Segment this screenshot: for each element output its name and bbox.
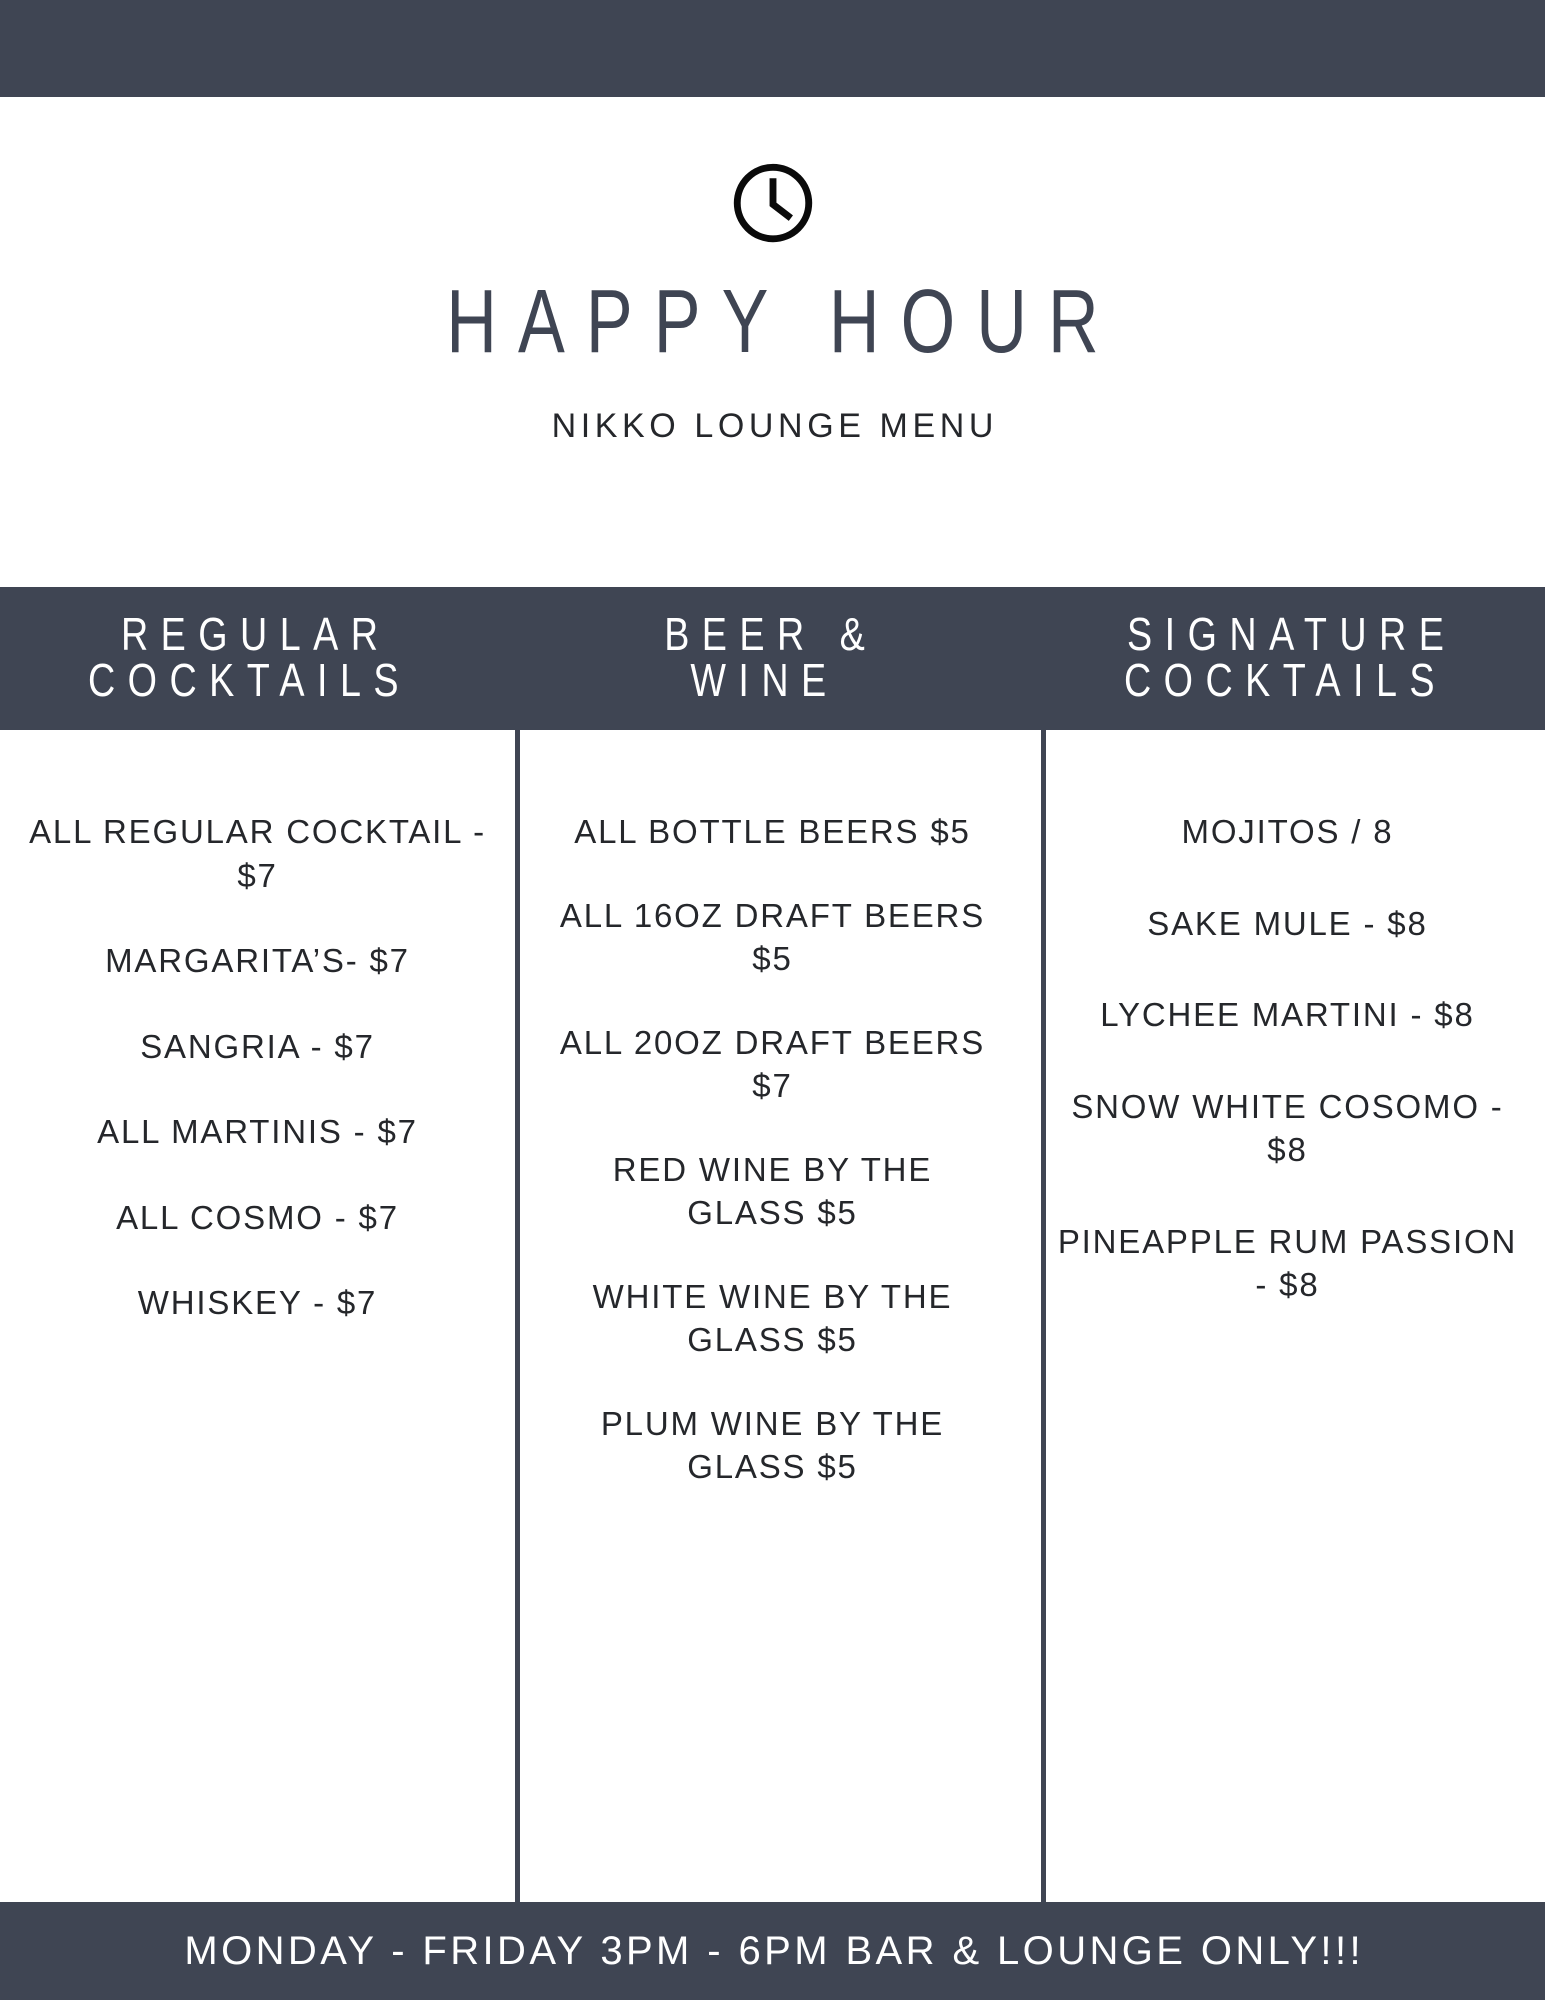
menu-column-beer-and-wine: ALL BOTTLE BEERS $5 ALL 16OZ DRAFT BEERS… — [515, 730, 1030, 1902]
menu-item: RED WINE BY THE GLASS $5 — [549, 1148, 996, 1235]
clock-icon-wrapper — [0, 157, 1545, 249]
menu-item: WHISKEY - $7 — [26, 1281, 489, 1325]
category-header-signature-cocktails: SIGNATURE COCKTAILS — [1028, 611, 1543, 703]
category-title: SIGNATURE COCKTAILS — [1074, 611, 1496, 703]
menu-item: ALL MARTINIS - $7 — [26, 1110, 489, 1154]
category-header-regular-cocktails: REGULAR COCKTAILS — [0, 611, 507, 703]
page-subtitle: NIKKO LOUNGE MENU — [0, 407, 1545, 446]
menu-columns: ALL REGULAR COCKTAIL - $7 MARGARITA’S- $… — [0, 730, 1545, 1902]
clock-icon — [729, 159, 817, 247]
category-header-beer-and-wine: BEER & WINE — [507, 611, 1022, 703]
page-title: HAPPY HOUR — [170, 277, 1375, 367]
footer-bar: MONDAY - FRIDAY 3PM - 6PM BAR & LOUNGE O… — [0, 1902, 1545, 2000]
category-title: BEER & WINE — [553, 611, 975, 703]
menu-item: ALL REGULAR COCKTAIL - $7 — [26, 810, 489, 897]
masthead: HAPPY HOUR NIKKO LOUNGE MENU — [0, 97, 1545, 587]
menu-item: PLUM WINE BY THE GLASS $5 — [549, 1402, 996, 1489]
top-accent-bar — [0, 0, 1545, 97]
menu-item: WHITE WINE BY THE GLASS $5 — [549, 1275, 996, 1362]
menu-item: SAKE MULE - $8 — [1056, 902, 1519, 946]
menu-column-regular-cocktails: ALL REGULAR COCKTAIL - $7 MARGARITA’S- $… — [0, 730, 515, 1902]
menu-item: SANGRIA - $7 — [26, 1025, 489, 1069]
menu-item: MARGARITA’S- $7 — [26, 939, 489, 983]
menu-item: LYCHEE MARTINI - $8 — [1056, 993, 1519, 1037]
column-divider-left — [515, 730, 520, 1902]
menu-item: ALL BOTTLE BEERS $5 — [549, 810, 996, 854]
category-header-band: REGULAR COCKTAILS BEER & WINE SIGNATURE … — [0, 587, 1545, 730]
category-header-row: REGULAR COCKTAILS BEER & WINE SIGNATURE … — [0, 587, 1545, 703]
menu-item: ALL 16OZ DRAFT BEERS $5 — [549, 894, 996, 981]
happy-hour-menu-poster: HAPPY HOUR NIKKO LOUNGE MENU REGULAR COC… — [0, 0, 1545, 2000]
footer-note: MONDAY - FRIDAY 3PM - 6PM BAR & LOUNGE O… — [181, 1929, 1364, 1974]
menu-item: SNOW WHITE COSOMO - $8 — [1056, 1085, 1519, 1172]
menu-column-signature-cocktails: MOJITOS / 8 SAKE MULE - $8 LYCHEE MARTIN… — [1030, 730, 1545, 1902]
menu-item: PINEAPPLE RUM PASSION - $8 — [1056, 1220, 1519, 1307]
menu-item: ALL COSMO - $7 — [26, 1196, 489, 1240]
column-divider-right — [1041, 730, 1046, 1902]
menu-item: ALL 20OZ DRAFT BEERS $7 — [549, 1021, 996, 1108]
category-title: REGULAR COCKTAILS — [38, 611, 460, 703]
menu-item: MOJITOS / 8 — [1056, 810, 1519, 854]
